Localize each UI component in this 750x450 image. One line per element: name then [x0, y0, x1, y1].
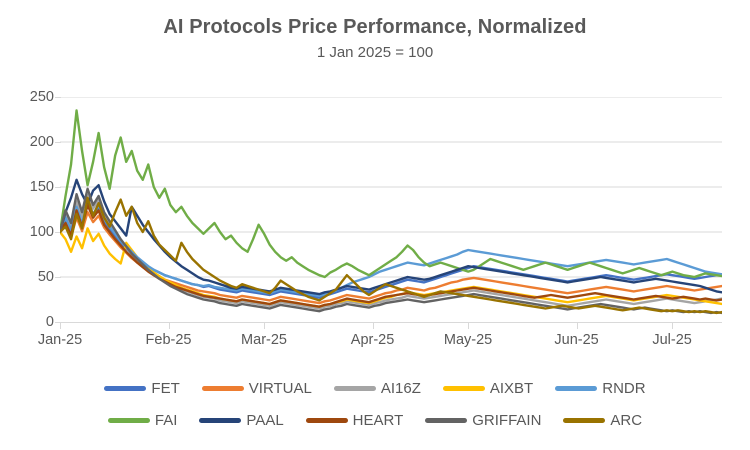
legend-item-aixbt[interactable]: AIXBT [443, 380, 533, 397]
legend-label: RNDR [602, 380, 645, 397]
legend-item-arc[interactable]: ARC [563, 412, 642, 429]
series-line-griffain [60, 189, 722, 313]
chart-legend: FETVIRTUALAI16ZAIXBTRNDR FAIPAALHEARTGRI… [0, 372, 750, 436]
x-axis-ticks [60, 322, 722, 329]
legend-label: AI16Z [381, 380, 421, 397]
legend-label: AIXBT [490, 380, 533, 397]
legend-item-virtual[interactable]: VIRTUAL [202, 380, 312, 397]
chart-container: AI Protocols Price Performance, Normaliz… [0, 0, 750, 450]
legend-swatch-icon [334, 386, 376, 391]
x-tick-label: Jun-25 [554, 331, 598, 349]
series-line-virtual [60, 212, 722, 303]
x-tick-label: Jul-25 [652, 331, 692, 349]
x-tick-mark [672, 322, 673, 329]
legend-swatch-icon [104, 386, 146, 391]
chart-title-block: AI Protocols Price Performance, Normaliz… [0, 14, 750, 64]
y-tick-label: 0 [6, 315, 54, 329]
x-tick-label: Apr-25 [351, 331, 395, 349]
y-tick-label: 100 [6, 225, 54, 239]
page-title: AI Protocols Price Performance, Normaliz… [0, 14, 750, 40]
legend-swatch-icon [108, 418, 150, 423]
legend-label: GRIFFAIN [472, 412, 541, 429]
legend-item-fet[interactable]: FET [104, 380, 179, 397]
legend-item-fai[interactable]: FAI [108, 412, 178, 429]
x-axis-labels: Jan-25Feb-25Mar-25Apr-25May-25Jun-25Jul-… [0, 331, 750, 353]
legend-row-top: FETVIRTUALAI16ZAIXBTRNDR [0, 372, 750, 404]
legend-label: ARC [610, 412, 642, 429]
series-line-fai [60, 111, 722, 278]
x-tick-mark [169, 322, 170, 329]
chart-subtitle: 1 Jan 2025 = 100 [0, 42, 750, 64]
legend-item-heart[interactable]: HEART [306, 412, 404, 429]
x-tick-label: Feb-25 [146, 331, 192, 349]
x-tick-mark [373, 322, 374, 329]
legend-swatch-icon [425, 418, 467, 423]
legend-label: FAI [155, 412, 178, 429]
x-tick-mark [60, 322, 61, 329]
y-tick-label: 250 [6, 90, 54, 104]
y-axis: 050100150200250 [0, 97, 54, 322]
x-tick-mark [264, 322, 265, 329]
legend-label: FET [151, 380, 179, 397]
legend-swatch-icon [563, 418, 605, 423]
y-tick-label: 200 [6, 135, 54, 149]
x-tick-label: Mar-25 [241, 331, 287, 349]
x-tick-label: Jan-25 [38, 331, 82, 349]
x-tick-label: May-25 [444, 331, 492, 349]
legend-row-bottom: FAIPAALHEARTGRIFFAINARC [0, 404, 750, 436]
legend-label: PAAL [246, 412, 283, 429]
legend-swatch-icon [202, 386, 244, 391]
legend-item-ai16z[interactable]: AI16Z [334, 380, 421, 397]
legend-swatch-icon [199, 418, 241, 423]
legend-item-paal[interactable]: PAAL [199, 412, 283, 429]
x-tick-mark [577, 322, 578, 329]
legend-item-griffain[interactable]: GRIFFAIN [425, 412, 541, 429]
x-tick-mark [468, 322, 469, 329]
legend-swatch-icon [443, 386, 485, 391]
legend-label: VIRTUAL [249, 380, 312, 397]
y-tick-label: 150 [6, 180, 54, 194]
legend-label: HEART [353, 412, 404, 429]
legend-item-rndr[interactable]: RNDR [555, 380, 645, 397]
series-canvas [60, 97, 722, 322]
legend-swatch-icon [555, 386, 597, 391]
legend-swatch-icon [306, 418, 348, 423]
y-tick-label: 50 [6, 270, 54, 284]
plot-area [60, 97, 722, 322]
